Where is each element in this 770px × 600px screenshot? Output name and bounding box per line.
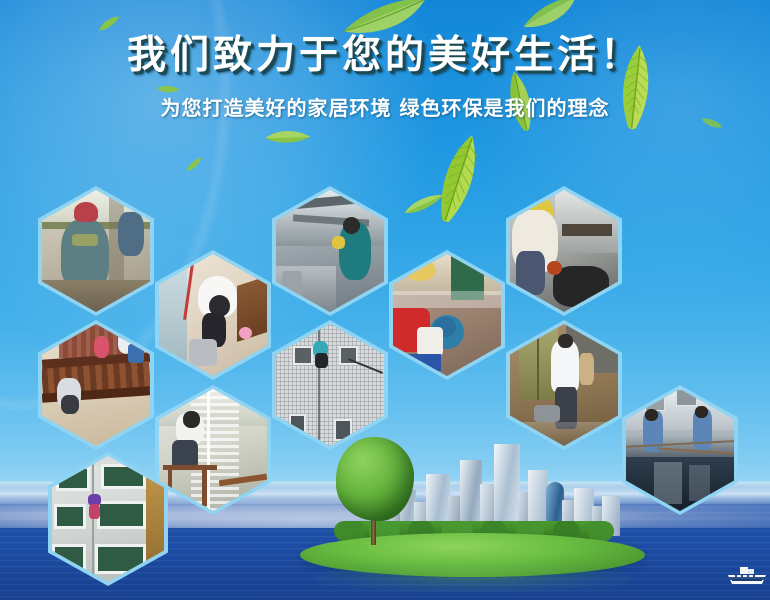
hex-tile-7-photo xyxy=(276,324,384,446)
hex-tile-4[interactable] xyxy=(389,250,505,380)
hex-tile-4-photo xyxy=(393,254,501,376)
page-title: 我们致力于您的美好生活！ xyxy=(0,36,770,75)
hex-tile-11[interactable] xyxy=(48,452,168,586)
hex-tile-2-photo xyxy=(159,254,267,376)
banner-root: 我们致力于您的美好生活！ 为您打造美好的家居环境 绿色环保是我们的理念 xyxy=(0,0,770,600)
hex-tile-6[interactable] xyxy=(38,320,154,450)
hex-tile-3-photo xyxy=(276,190,384,312)
page-subtitle: 为您打造美好的家居环境 绿色环保是我们的理念 xyxy=(0,98,770,118)
hex-tile-3[interactable] xyxy=(272,186,388,316)
hex-tile-7[interactable] xyxy=(272,320,388,450)
hex-tile-1-photo xyxy=(42,190,150,312)
hex-tile-1[interactable] xyxy=(38,186,154,316)
hex-tile-8-photo xyxy=(510,324,618,446)
hex-tile-9-photo xyxy=(159,389,267,511)
hex-tile-5-photo xyxy=(510,190,618,312)
hex-tile-10[interactable] xyxy=(622,385,738,515)
hex-tile-9[interactable] xyxy=(155,385,271,515)
hex-tile-6-photo xyxy=(42,324,150,446)
hex-tile-10-photo xyxy=(626,389,734,511)
hex-tile-8[interactable] xyxy=(506,320,622,450)
hex-tile-5[interactable] xyxy=(506,186,622,316)
hex-tile-11-photo xyxy=(52,456,164,582)
service-photo-hexagon-grid xyxy=(0,0,770,600)
hex-tile-2[interactable] xyxy=(155,250,271,380)
